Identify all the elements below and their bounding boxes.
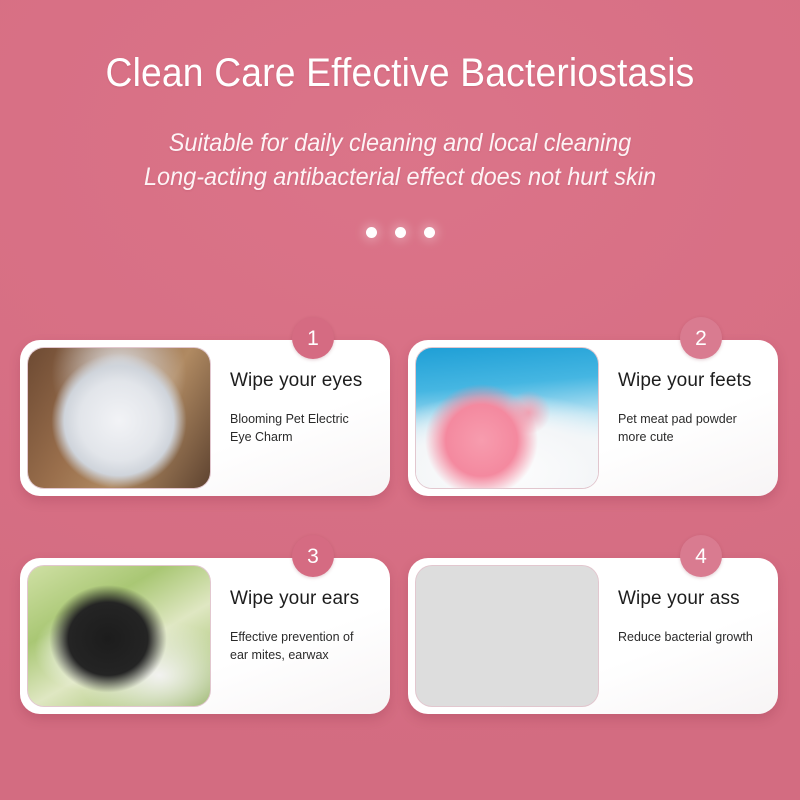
pagination-dots[interactable]	[0, 227, 800, 238]
subtitle-line-1: Suitable for daily cleaning and local cl…	[24, 127, 776, 161]
feature-card-1[interactable]: Wipe your eyes Blooming Pet Electric Eye…	[20, 340, 390, 496]
card-2-body: Wipe your feets Pet meat pad powder more…	[598, 348, 772, 488]
card-4-title: Wipe your ass	[618, 588, 760, 611]
feature-card-grid: Wipe your eyes Blooming Pet Electric Eye…	[20, 340, 780, 714]
card-1-description: Blooming Pet Electric Eye Charm	[230, 410, 372, 446]
card-2-description: Pet meat pad powder more cute	[618, 410, 760, 446]
card-4-description: Reduce bacterial growth	[618, 628, 760, 646]
card-1-title: Wipe your eyes	[230, 370, 372, 393]
pagination-dot-3[interactable]	[424, 227, 435, 238]
subtitle-line-2: Long-acting antibacterial effect does no…	[24, 161, 776, 195]
dog-hindquarters-photo	[416, 566, 598, 706]
card-3-body: Wipe your ears Effective prevention of e…	[210, 566, 384, 706]
cat-face-winking-photo	[28, 348, 210, 488]
page-title: Clean Care Effective Bacteriostasis	[28, 50, 772, 96]
card-4-number-badge: 4	[680, 535, 722, 577]
card-3-number-badge: 3	[292, 535, 334, 577]
card-4-image	[416, 566, 598, 706]
card-1-body: Wipe your eyes Blooming Pet Electric Eye…	[210, 348, 384, 488]
feature-card-2[interactable]: Wipe your feets Pet meat pad powder more…	[408, 340, 778, 496]
hero-section: Clean Care Effective Bacteriostasis Suit…	[0, 0, 800, 238]
border-collie-ear-cleaning-photo	[28, 566, 210, 706]
card-4-body: Wipe your ass Reduce bacterial growth	[598, 566, 772, 706]
cat-paw-pad-photo	[416, 348, 598, 488]
feature-card-4[interactable]: Wipe your ass Reduce bacterial growth 4	[408, 558, 778, 714]
page-subtitle: Suitable for daily cleaning and local cl…	[24, 127, 776, 195]
card-3-description: Effective prevention of ear mites, earwa…	[230, 628, 372, 664]
card-3-image	[28, 566, 210, 706]
card-3-title: Wipe your ears	[230, 588, 372, 611]
feature-card-3[interactable]: Wipe your ears Effective prevention of e…	[20, 558, 390, 714]
pagination-dot-2[interactable]	[395, 227, 406, 238]
card-2-image	[416, 348, 598, 488]
card-1-number-badge: 1	[292, 317, 334, 359]
pagination-dot-1[interactable]	[366, 227, 377, 238]
card-2-title: Wipe your feets	[618, 370, 760, 393]
card-1-image	[28, 348, 210, 488]
card-2-number-badge: 2	[680, 317, 722, 359]
